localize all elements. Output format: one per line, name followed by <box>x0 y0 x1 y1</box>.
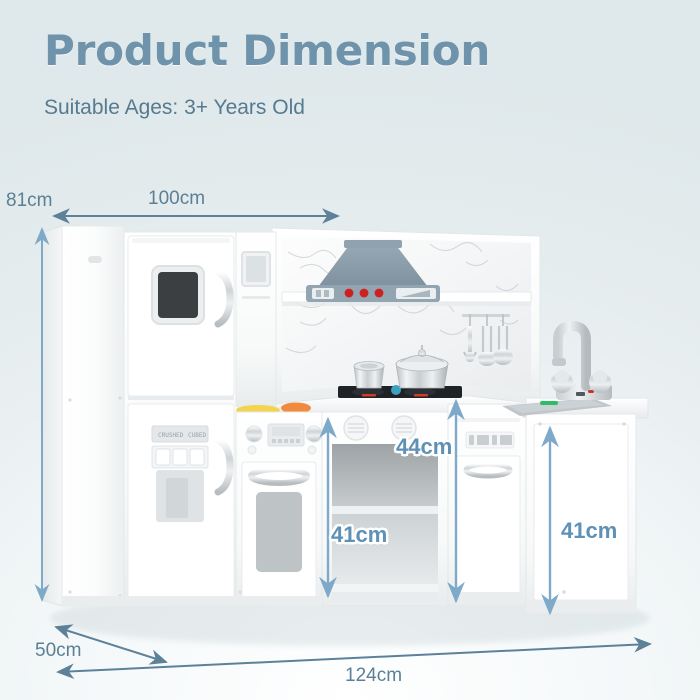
fridge-screw-1 <box>68 398 71 401</box>
hood-icon-a <box>316 290 321 297</box>
dimension-label-shelf-upper: 44cm <box>396 434 452 460</box>
oven-indicator-right <box>308 446 316 454</box>
burner-led-right <box>414 394 428 397</box>
shelf-bottom-board <box>332 584 438 592</box>
faucet-logo <box>576 392 585 396</box>
oven-knob-right[interactable] <box>306 426 322 442</box>
ice-button-3[interactable] <box>190 449 204 465</box>
oven-plinth <box>236 596 322 606</box>
dimension-label-shelf-lower: 41cm <box>331 522 387 548</box>
faucet-handle-left-cap <box>555 370 569 384</box>
refrigerator: CRUSHED CUBED <box>42 226 238 606</box>
oven-indicator-left <box>248 446 256 454</box>
ice-panel-text-left: CRUSHED <box>158 432 184 439</box>
dimension-label-width-total: 124cm <box>345 665 402 687</box>
dimension-label-width-top: 100cm <box>148 188 205 210</box>
page-subtitle: Suitable Ages: 3+ Years Old <box>44 96 305 120</box>
fridge-plinth <box>62 596 238 606</box>
upper-cabinet-trim <box>242 296 270 299</box>
hood-light-3[interactable] <box>375 289 384 298</box>
hood-light-2[interactable] <box>360 289 369 298</box>
fridge-door-divider <box>128 396 234 400</box>
upper-cabinet-glass <box>246 256 266 282</box>
faucet-aerator <box>552 358 566 366</box>
faucet[interactable] <box>551 326 612 400</box>
pot-small[interactable] <box>354 362 384 389</box>
dimension-label-depth: 50cm <box>35 640 81 662</box>
sink-screw-2 <box>622 422 626 426</box>
burner-led-left <box>362 394 376 397</box>
hood-left-button[interactable] <box>312 288 334 299</box>
fridge-divider-shine <box>128 400 234 403</box>
hood-light-1[interactable] <box>345 289 354 298</box>
dimension-label-counter-right: 41cm <box>561 518 617 544</box>
fridge-side-panel <box>42 226 62 606</box>
fridge-left-column <box>62 226 124 606</box>
sink-drain-marker <box>540 401 558 405</box>
ice-button-2[interactable] <box>173 449 187 465</box>
display-panel[interactable] <box>158 272 198 318</box>
ice-button-1[interactable] <box>156 449 170 465</box>
dimension-label-height-total: 81cm <box>6 190 52 212</box>
fridge-top-latch[interactable] <box>88 256 102 263</box>
fridge-door-top-trim <box>132 238 230 243</box>
ice-panel-text-right: CUBED <box>188 432 206 439</box>
microwave-display <box>272 427 300 436</box>
sink-screw-3 <box>562 590 566 594</box>
hood-icon-b <box>324 290 329 297</box>
fridge-screw-3 <box>68 590 71 593</box>
shelf-divider-board <box>332 506 438 514</box>
oven-knob-left[interactable] <box>246 426 262 442</box>
faucet-handle-right-cap <box>593 370 607 384</box>
dishwasher-plinth <box>456 592 520 602</box>
dishwasher-top-trim <box>456 418 520 422</box>
oven-screw <box>238 590 241 593</box>
hutch-shelf-edge <box>282 302 531 306</box>
dispenser-glass <box>166 478 188 518</box>
page-title: Product Dimension <box>44 26 490 75</box>
oven-window <box>256 492 302 572</box>
cabinet-plinth <box>332 592 438 602</box>
fridge-screw-2 <box>118 396 121 399</box>
sink-screw-1 <box>538 422 542 426</box>
infographic-canvas: CRUSHED CUBED <box>0 0 700 700</box>
dishwasher <box>448 404 526 606</box>
hood-duct <box>344 240 402 248</box>
sink-cabinet-plinth <box>526 600 636 612</box>
sink-cabinet-door[interactable] <box>534 424 628 600</box>
